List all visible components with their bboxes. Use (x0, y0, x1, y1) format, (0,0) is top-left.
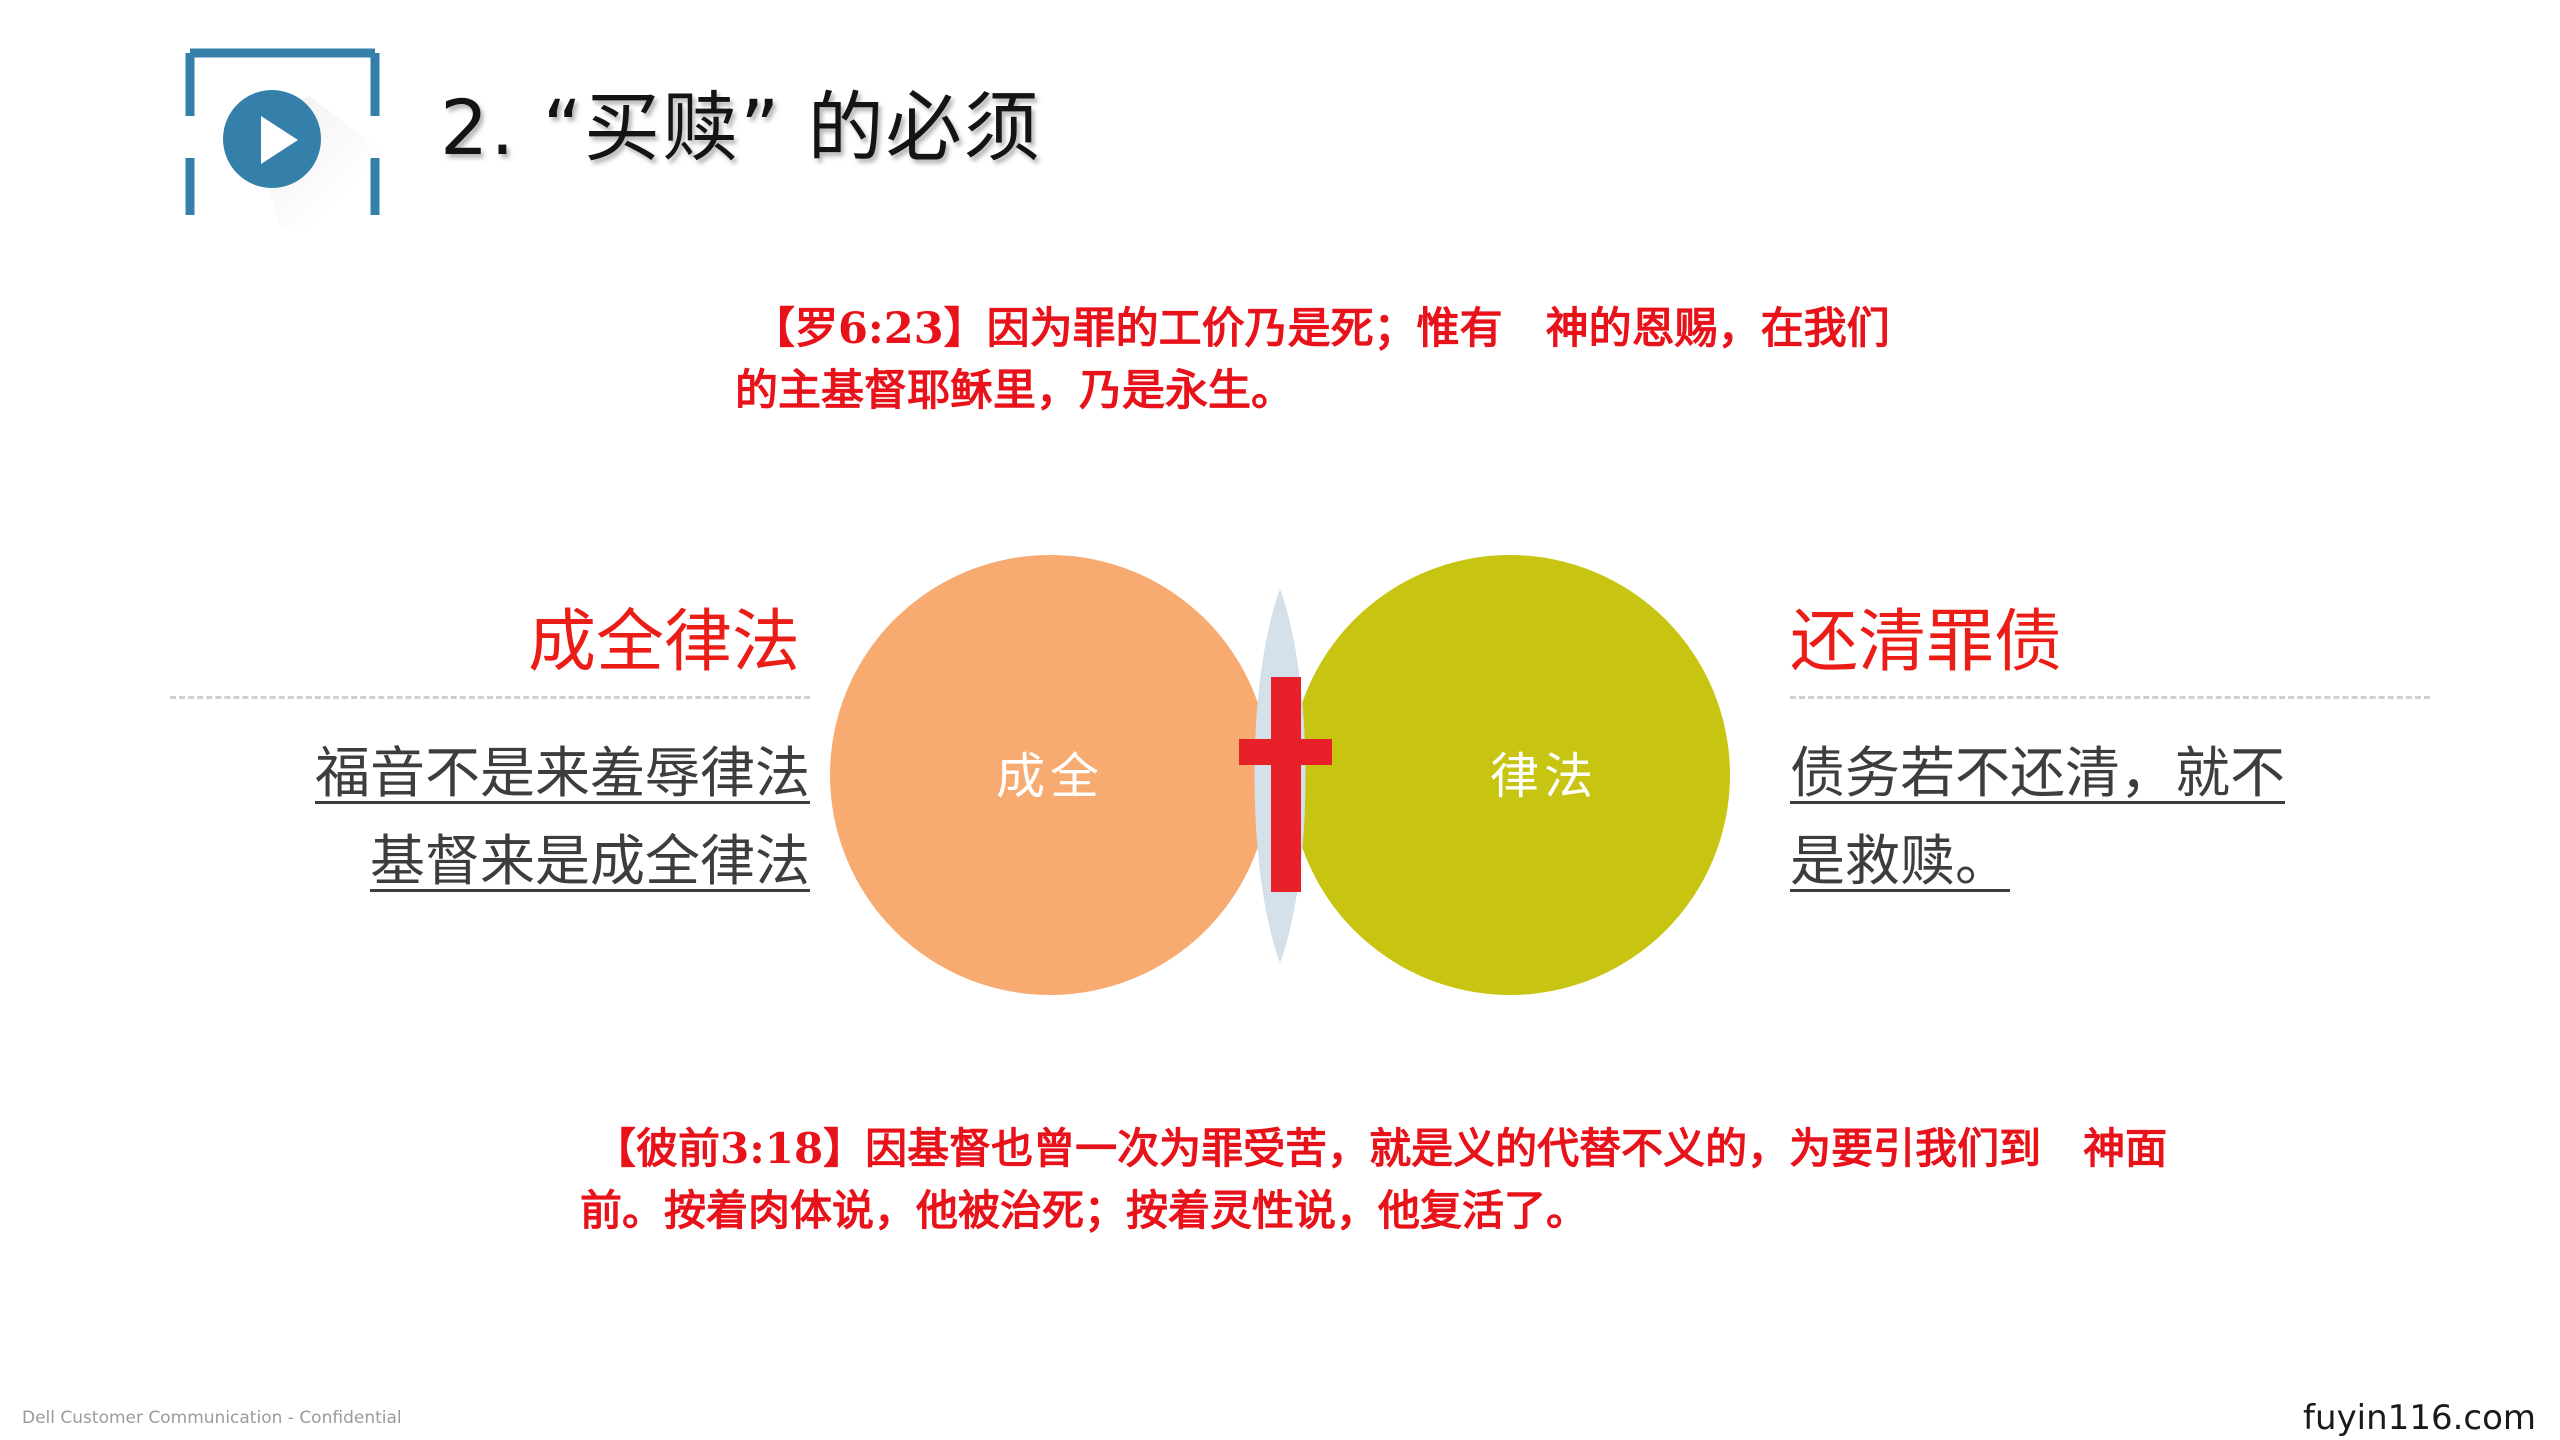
left-column-heading: 成全律法 (170, 600, 810, 686)
right-column: 还清罪债 债务若不还清，就不 是救赎。 (1790, 600, 2430, 905)
cross-icon-vertical (1271, 677, 1301, 892)
venn-circle-right-label: 律法 (1290, 737, 1764, 808)
slide-canvas: 2. “买赎” 的必须 【罗6:23】因为罪的工价乃是死；惟有 神的恩赐，在我们… (0, 0, 2560, 1440)
right-column-heading: 还清罪债 (1790, 600, 2430, 686)
venn-overlap-lens (1226, 589, 1334, 963)
cross-icon-horizontal (1239, 739, 1332, 765)
venn-circle-right: 律法 (1290, 555, 1730, 995)
left-column-body: 福音不是来羞辱律法 基督来是成全律法 (170, 729, 810, 905)
left-column-body-line-2: 基督来是成全律法 (370, 829, 810, 893)
page-title: 2. “买赎” 的必须 (440, 78, 1042, 178)
right-column-divider (1790, 696, 2430, 699)
venn-circle-left: 成全 (830, 555, 1270, 995)
right-column-body: 债务若不还清，就不 是救赎。 (1790, 729, 2430, 905)
right-column-body-line-2: 是救赎。 (1790, 829, 2010, 893)
left-column-body-line-1: 福音不是来羞辱律法 (315, 741, 810, 805)
left-column: 成全律法 福音不是来羞辱律法 基督来是成全律法 (170, 600, 810, 905)
scripture-verse-bottom: 【彼前3:18】因基督也曾一次为罪受苦，就是义的代替不义的，为要引我们到 神面前… (580, 1118, 2180, 1242)
venn-diagram: 成全 律法 (830, 555, 1730, 1015)
footer-confidentiality-notice: Dell Customer Communication - Confidenti… (22, 1408, 402, 1428)
slide-header: 2. “买赎” 的必须 (0, 0, 2560, 250)
left-column-divider (170, 696, 810, 699)
play-triangle-icon (261, 116, 298, 164)
play-button-in-frame-icon (185, 48, 380, 220)
scripture-verse-top: 【罗6:23】因为罪的工价乃是死；惟有 神的恩赐，在我们的主基督耶稣里，乃是永生… (735, 298, 1895, 422)
right-column-body-line-1: 债务若不还清，就不 (1790, 741, 2285, 805)
footer-website-watermark: fuyin116.com (2303, 1398, 2536, 1438)
